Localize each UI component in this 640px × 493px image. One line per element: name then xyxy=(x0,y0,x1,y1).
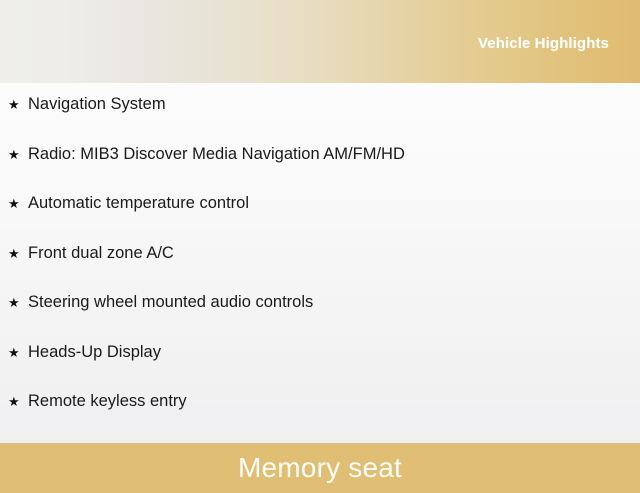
list-item: ★ Remote keyless entry xyxy=(0,393,640,443)
list-item-label: Steering wheel mounted audio controls xyxy=(28,294,640,311)
footer-caption: Memory seat xyxy=(238,454,402,482)
list-item: ★ Automatic temperature control xyxy=(0,195,640,245)
star-icon: ★ xyxy=(8,98,28,111)
star-icon: ★ xyxy=(8,296,28,309)
page-title: Vehicle Highlights xyxy=(478,31,640,52)
list-item: ★ Front dual zone A/C xyxy=(0,245,640,295)
star-icon: ★ xyxy=(8,247,28,260)
star-icon: ★ xyxy=(8,395,28,408)
list-item: ★ Steering wheel mounted audio controls xyxy=(0,294,640,344)
list-item: ★ Navigation System xyxy=(0,96,640,146)
feature-list: ★ Navigation System ★ Radio: MIB3 Discov… xyxy=(0,83,640,443)
list-item-label: Navigation System xyxy=(28,96,640,113)
list-item: ★ Radio: MIB3 Discover Media Navigation … xyxy=(0,146,640,196)
star-icon: ★ xyxy=(8,346,28,359)
star-icon: ★ xyxy=(8,197,28,210)
footer-caption-bar: Memory seat xyxy=(0,443,640,493)
list-item-label: Automatic temperature control xyxy=(28,195,640,212)
star-icon: ★ xyxy=(8,148,28,161)
list-item-label: Remote keyless entry xyxy=(28,393,640,410)
vehicle-highlights-slide: Vehicle Highlights ★ Navigation System ★… xyxy=(0,0,640,480)
list-item-label: Radio: MIB3 Discover Media Navigation AM… xyxy=(28,146,640,163)
list-item: ★ Heads-Up Display xyxy=(0,344,640,394)
list-item-label: Front dual zone A/C xyxy=(28,245,640,262)
header-banner: Vehicle Highlights xyxy=(0,0,640,83)
list-item-label: Heads-Up Display xyxy=(28,344,640,361)
